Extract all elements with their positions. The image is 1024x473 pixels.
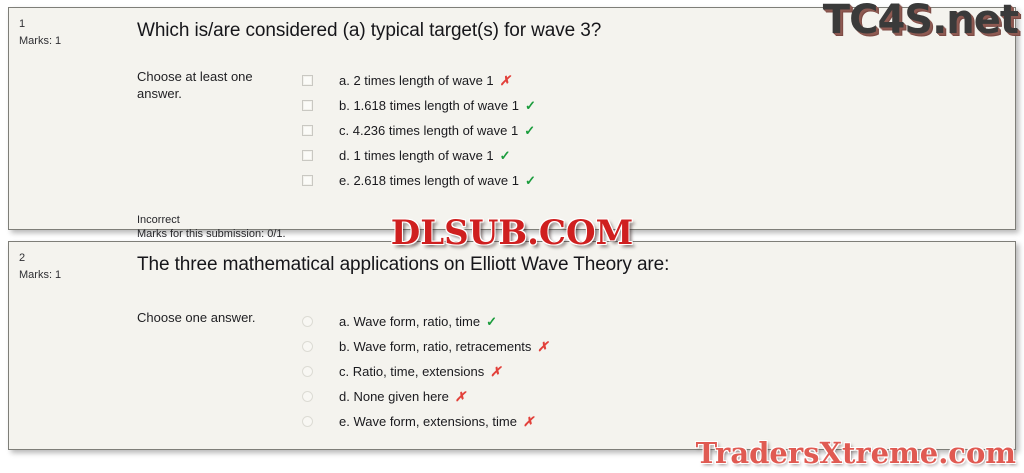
option-row[interactable]: a. Wave form, ratio, time ✓	[302, 309, 1015, 334]
question-marks-1: Marks: 1	[19, 34, 119, 48]
option-label: b. 1.618 times length of wave 1	[339, 97, 519, 114]
question-block-1: 1 Marks: 1 Which is/are considered (a) t…	[8, 7, 1016, 230]
correct-icon: ✓	[500, 148, 511, 164]
option-row[interactable]: d. None given here ✗	[302, 384, 1015, 409]
question-body-1: Which is/are considered (a) typical targ…	[119, 8, 1015, 229]
option-row[interactable]: b. 1.618 times length of wave 1 ✓	[302, 93, 1015, 118]
radio-option-e[interactable]	[302, 416, 313, 427]
question-title-2: The three mathematical applications on E…	[119, 242, 1015, 277]
wrong-icon: ✗	[455, 389, 466, 405]
question-number-2: 2	[19, 251, 119, 265]
radio-option-b[interactable]	[302, 341, 313, 352]
option-row[interactable]: e. Wave form, extensions, time ✗	[302, 409, 1015, 434]
radio-option-a[interactable]	[302, 316, 313, 327]
option-label: a. 2 times length of wave 1	[339, 72, 494, 89]
question-block-2: 2 Marks: 1 The three mathematical applic…	[8, 241, 1016, 450]
feedback-status-1: Incorrect	[137, 213, 1015, 227]
quiz-page: 1 Marks: 1 Which is/are considered (a) t…	[0, 0, 1024, 473]
option-label: d. 1 times length of wave 1	[339, 147, 494, 164]
question-number-column-1: 1 Marks: 1	[9, 8, 119, 229]
answer-area-1: Choose at least one answer. a. 2 times l…	[119, 43, 1015, 193]
checkbox-option-d[interactable]	[302, 150, 313, 161]
option-label: c. Ratio, time, extensions	[339, 363, 484, 380]
option-list-2: a. Wave form, ratio, time ✓ b. Wave form…	[299, 309, 1015, 434]
option-row[interactable]: d. 1 times length of wave 1 ✓	[302, 143, 1015, 168]
option-row[interactable]: b. Wave form, ratio, retracements ✗	[302, 334, 1015, 359]
option-row[interactable]: a. 2 times length of wave 1 ✗	[302, 68, 1015, 93]
question-title-1: Which is/are considered (a) typical targ…	[119, 8, 1015, 43]
option-row[interactable]: c. 4.236 times length of wave 1 ✓	[302, 118, 1015, 143]
instruction-label-1: Choose at least one answer.	[137, 68, 299, 102]
checkbox-option-e[interactable]	[302, 175, 313, 186]
feedback-block-1: Incorrect Marks for this submission: 0/1…	[119, 193, 1015, 241]
correct-icon: ✓	[525, 173, 536, 189]
wrong-icon: ✗	[490, 364, 501, 380]
checkbox-option-b[interactable]	[302, 100, 313, 111]
option-row[interactable]: e. 2.618 times length of wave 1 ✓	[302, 168, 1015, 193]
option-label: a. Wave form, ratio, time	[339, 313, 480, 330]
option-label: d. None given here	[339, 388, 449, 405]
instruction-label-2: Choose one answer.	[137, 309, 299, 326]
feedback-marks-1: Marks for this submission: 0/1.	[137, 227, 1015, 241]
correct-icon: ✓	[486, 314, 497, 330]
answer-area-2: Choose one answer. a. Wave form, ratio, …	[119, 277, 1015, 434]
question-marks-2: Marks: 1	[19, 268, 119, 282]
option-label: e. 2.618 times length of wave 1	[339, 172, 519, 189]
option-label: c. 4.236 times length of wave 1	[339, 122, 518, 139]
wrong-icon: ✗	[537, 339, 548, 355]
option-list-1: a. 2 times length of wave 1 ✗ b. 1.618 t…	[299, 68, 1015, 193]
question-number-column-2: 2 Marks: 1	[9, 242, 119, 449]
option-label: e. Wave form, extensions, time	[339, 413, 517, 430]
question-body-2: The three mathematical applications on E…	[119, 242, 1015, 449]
checkbox-option-c[interactable]	[302, 125, 313, 136]
option-label: b. Wave form, ratio, retracements	[339, 338, 531, 355]
correct-icon: ✓	[525, 98, 536, 114]
correct-icon: ✓	[524, 123, 535, 139]
wrong-icon: ✗	[500, 73, 511, 89]
wrong-icon: ✗	[523, 414, 534, 430]
radio-option-c[interactable]	[302, 366, 313, 377]
checkbox-option-a[interactable]	[302, 75, 313, 86]
question-number-1: 1	[19, 17, 119, 31]
radio-option-d[interactable]	[302, 391, 313, 402]
option-row[interactable]: c. Ratio, time, extensions ✗	[302, 359, 1015, 384]
